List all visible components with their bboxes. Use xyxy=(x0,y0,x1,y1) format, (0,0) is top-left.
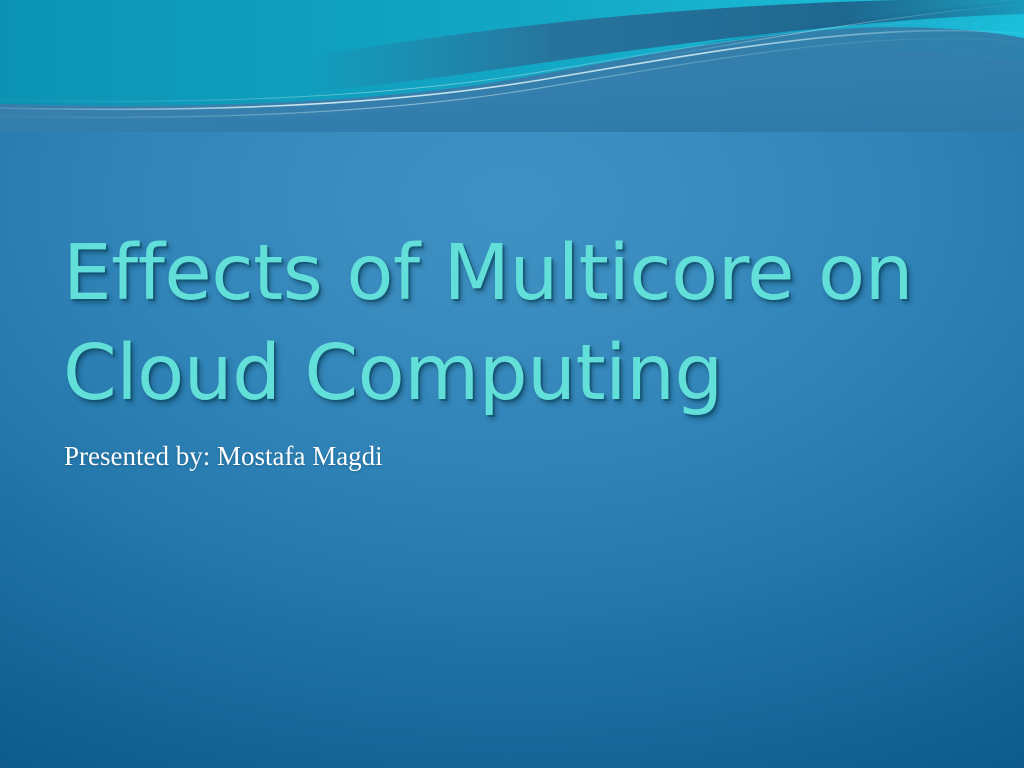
wave-hairline-secondary xyxy=(0,38,1024,117)
wave-hairline-upper-right xyxy=(640,4,1024,60)
slide-title[interactable]: Effects of Multicore on Cloud Computing xyxy=(63,224,923,424)
wave-dark-ribbon xyxy=(300,0,1024,92)
subtitle-placeholder[interactable]: Presented by: Mostafa Magdi xyxy=(64,440,864,472)
wave-hairline-primary xyxy=(0,30,1024,109)
title-placeholder[interactable]: Effects of Multicore on Cloud Computing xyxy=(63,224,923,424)
wave-teal-field xyxy=(0,0,1024,106)
wave-hairline-tertiary xyxy=(0,22,1024,101)
wave-blue-body xyxy=(0,51,1024,132)
wave-slate-band xyxy=(0,27,1024,120)
slide-subtitle[interactable]: Presented by: Mostafa Magdi xyxy=(64,440,864,472)
title-slide: Effects of Multicore on Cloud Computing … xyxy=(0,0,1024,768)
flow-theme-wave-decoration xyxy=(0,0,1024,132)
wave-cyan-sweep xyxy=(700,0,1024,92)
